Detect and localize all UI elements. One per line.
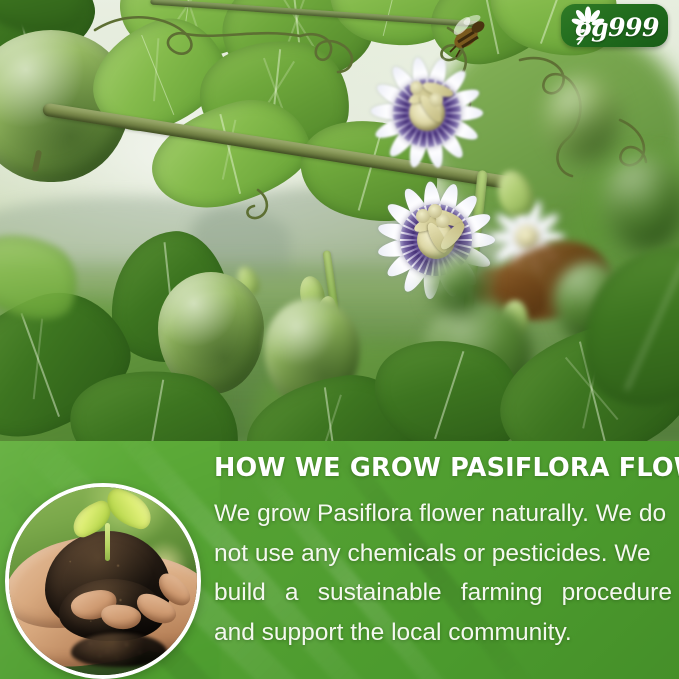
flower-stigma bbox=[429, 93, 442, 106]
panel-headline: HOW WE GROW PASIFLORA FLOWERS bbox=[214, 454, 669, 482]
passion-fruit bbox=[546, 78, 620, 162]
body-word: sustainable bbox=[318, 573, 442, 613]
body-line: and support the local community. bbox=[214, 613, 672, 653]
body-line: We grow Pasiflora flower naturally. We d… bbox=[214, 494, 672, 534]
body-line: build a sustainable farming procedure bbox=[214, 573, 672, 613]
infographic-canvas: og999 bbox=[0, 0, 679, 679]
passion-flower bbox=[366, 52, 488, 174]
brand-logo[interactable]: og999 bbox=[561, 4, 668, 47]
body-line: not use any chemicals or pesticides. We bbox=[214, 534, 672, 574]
logo-wordmark: og999 bbox=[575, 13, 668, 43]
inset-photo-hands-seedling bbox=[5, 483, 201, 679]
seedling-stem bbox=[105, 523, 110, 561]
body-word: build bbox=[214, 573, 266, 613]
bee-icon bbox=[436, 8, 492, 60]
body-word: farming bbox=[461, 573, 543, 613]
passion-fruit bbox=[604, 158, 679, 250]
panel-body-copy: We grow Pasiflora flower naturally. We d… bbox=[214, 494, 672, 652]
info-panel: HOW WE GROW PASIFLORA FLOWERS We grow Pa… bbox=[0, 441, 679, 679]
flower-stigma bbox=[410, 81, 423, 94]
body-word: procedure bbox=[562, 573, 672, 613]
hero-photo bbox=[0, 0, 679, 442]
logo-inner: og999 bbox=[561, 4, 668, 47]
soil-crumbs bbox=[71, 633, 167, 667]
body-word: a bbox=[285, 573, 299, 613]
passion-fruit bbox=[430, 252, 486, 314]
